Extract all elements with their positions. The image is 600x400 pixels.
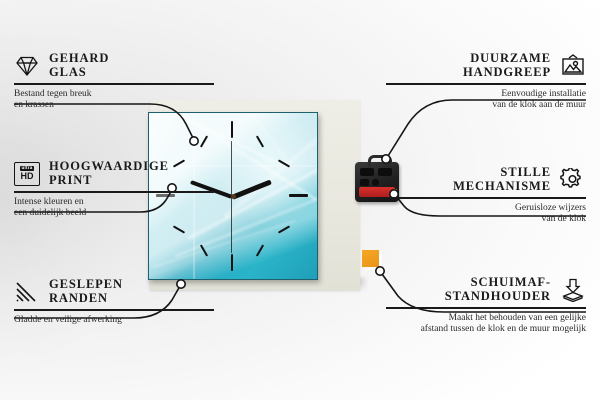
mechanism-slot [372,179,379,186]
feature-rule [14,83,214,85]
feature-subtitle: Gladde en veilige afwerking [14,315,214,327]
decor-streak [148,112,282,166]
feature-header: STILLEMECHANISME [386,166,586,193]
feature-title: DUURZAMEHANDGREEP [463,52,551,79]
connector-node-schuim [376,267,384,275]
feature-title: GEHARDGLAS [49,52,109,79]
clock-tick [173,225,185,233]
bevelled-edges-icon [14,280,40,304]
feature-header: GESLEPENRANDEN [14,278,214,305]
gear-icon [560,168,586,192]
clock-center-pin [231,194,236,199]
feature-subtitle: Intense kleuren eneen duidelijk beeld [14,197,214,220]
mechanism-slot [360,168,374,176]
feature-rule [14,191,214,193]
ultra-hd-badge-bottom: HD [21,172,34,181]
clock-tick [200,135,208,147]
feature-subtitle: Geruisloze wijzersvan de klok [386,203,586,226]
feature-subtitle: Bestand tegen breuken krassen [14,89,214,112]
feature-title: GESLEPENRANDEN [49,278,123,305]
clock-tick [256,135,264,147]
press-down-spacer-icon [560,278,586,302]
clock-tick [256,244,264,256]
infographic-canvas: GEHARDGLAS Bestand tegen breuken krassen… [0,0,600,400]
mechanism-slot [360,179,369,186]
feature-hoogwaardige-print: ultra HD HOOGWAARDIGEPRINT Intense kleur… [14,160,214,220]
feature-geslepen-randen: GESLEPENRANDEN Gladde en veilige afwerki… [14,278,214,326]
feature-header: SCHUIMAF-STANDHOUDER [386,276,586,303]
feature-header: GEHARDGLAS [14,52,214,79]
feature-subtitle: Eenvoudige installatievan de klok aan de… [386,89,586,112]
diamond-icon [14,54,40,78]
picture-frame-icon [560,54,586,78]
ultra-hd-badge: ultra HD [14,162,40,186]
clock-tick [289,194,308,197]
feature-stille-mechanisme: STILLEMECHANISME Geruisloze wijzersvan d… [386,166,586,226]
feature-subtitle: Maakt het behouden van een gelijkeafstan… [386,313,586,336]
feature-rule [386,197,586,199]
feature-rule [14,309,214,311]
feature-header: DUURZAMEHANDGREEP [386,52,586,79]
feature-gehard-glas: GEHARDGLAS Bestand tegen breuken krassen [14,52,214,112]
feature-title: HOOGWAARDIGEPRINT [49,160,169,187]
clock-tick [231,254,233,271]
ultra-hd-icon: ultra HD [14,162,40,186]
feature-rule [386,307,586,309]
feature-schuimafstandhouder: SCHUIMAF-STANDHOUDER Maakt het behouden … [386,276,586,336]
foam-spacer [362,250,379,267]
feature-title: SCHUIMAF-STANDHOUDER [445,276,551,303]
clock-tick [231,121,233,138]
feature-rule [386,83,586,85]
feature-duurzame-handgreep: DUURZAMEHANDGREEP Eenvoudige installatie… [386,52,586,112]
feature-header: ultra HD HOOGWAARDIGEPRINT [14,160,214,187]
feature-title: STILLEMECHANISME [453,166,551,193]
